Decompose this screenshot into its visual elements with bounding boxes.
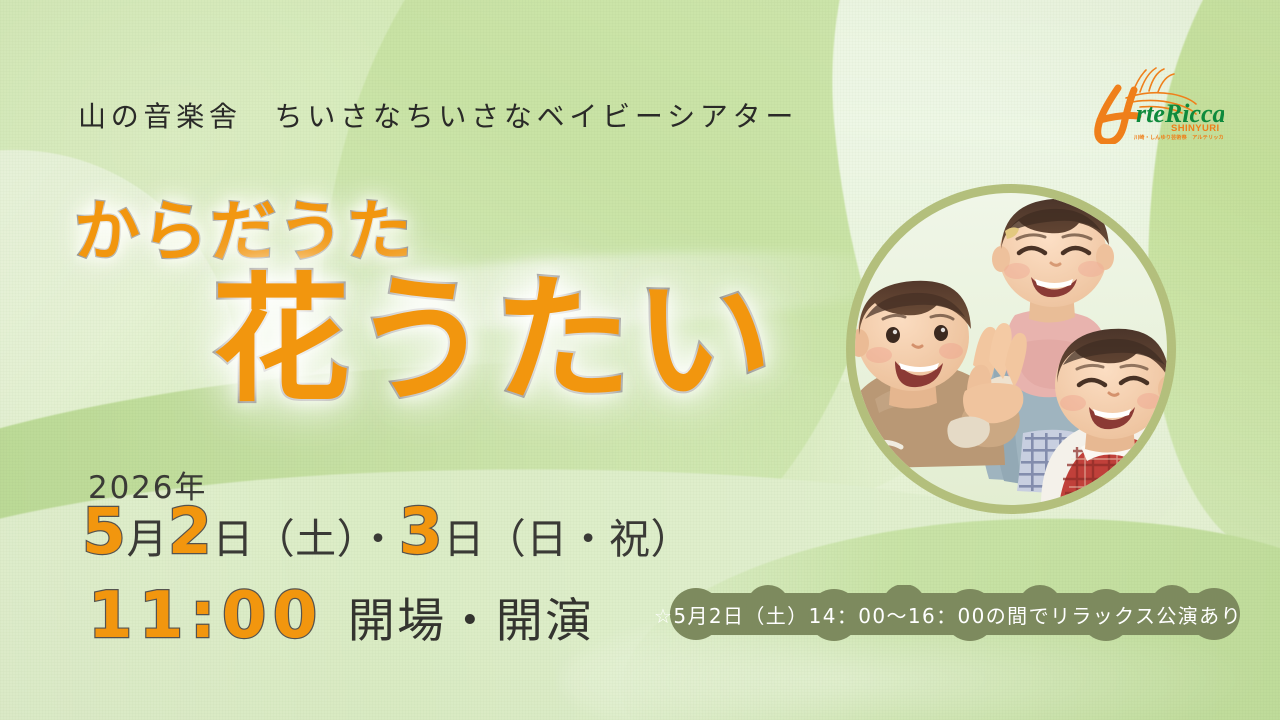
- date-day2-number: 3: [399, 495, 443, 568]
- event-time-line: 11:00開場・開演: [88, 584, 594, 648]
- producer-series-line: 山の音楽舎 ちいさなちいさなベイビーシアター: [78, 95, 798, 135]
- event-date-line: 5月2日（土）・3日（日・祝）: [82, 500, 692, 563]
- date-month-kanji: 月: [126, 515, 167, 563]
- poster-canvas: 山の音楽舎 ちいさなちいさなベイビーシアター からだうた 花うたい 2026年 …: [0, 0, 1280, 720]
- date-day1-label: 日（土）・: [212, 515, 399, 563]
- logo-sub: SHINYURI: [1171, 123, 1220, 134]
- event-time-value: 11:00: [88, 579, 324, 653]
- date-day2-label: 日（日・祝）: [443, 515, 691, 563]
- arte-ricca-logo: rteRicca SHINYURI 川崎・しんゆり芸術祭 アルテリッカしんゆり: [1074, 58, 1224, 144]
- date-day1-number: 2: [168, 495, 212, 568]
- program-title-hanautai: 花うたい: [212, 272, 775, 410]
- photo-circle-ring: [846, 184, 1176, 514]
- date-month-number: 5: [82, 495, 126, 568]
- babies-photo: [846, 184, 1176, 514]
- relax-performance-text: ☆5月2日（土）14：00〜16：00の間でリラックス公演あり: [648, 585, 1248, 643]
- relax-performance-banner: ☆5月2日（土）14：00〜16：00の間でリラックス公演あり: [648, 585, 1248, 643]
- event-time-label: 開場・開演: [348, 594, 595, 649]
- logo-tagline: 川崎・しんゆり芸術祭 アルテリッカしんゆり: [1133, 133, 1224, 141]
